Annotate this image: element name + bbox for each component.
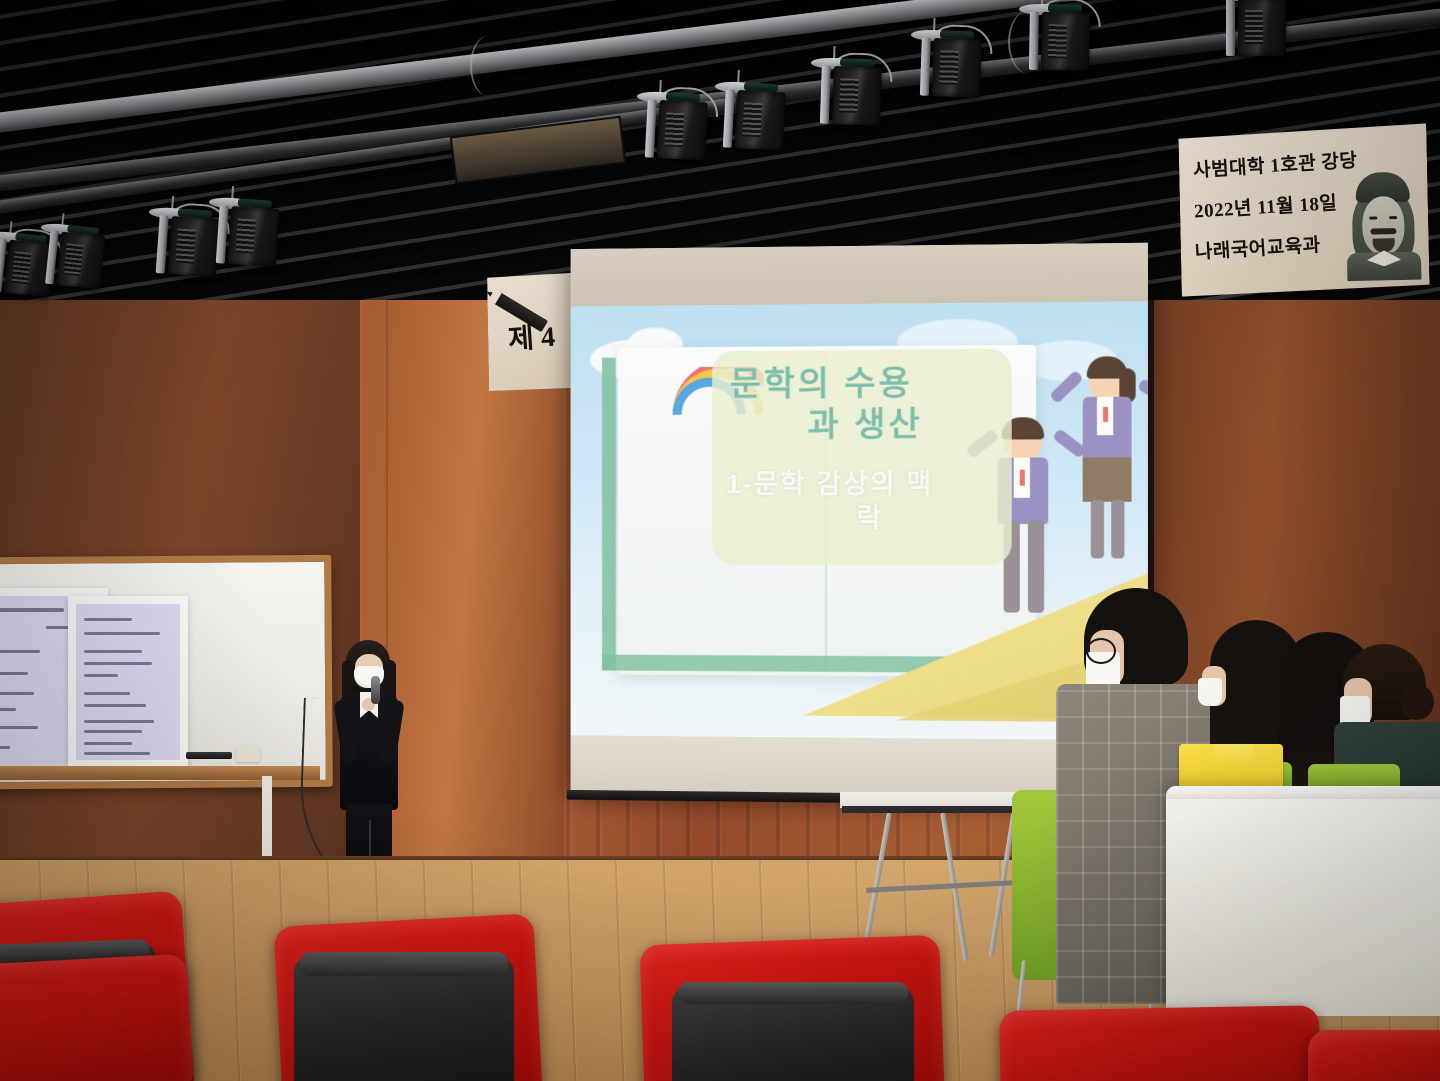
microphone-icon xyxy=(371,676,380,704)
cloud-icon xyxy=(1020,340,1117,381)
yellow-bag xyxy=(1179,744,1283,790)
auditorium-seat xyxy=(666,988,920,1081)
auditorium-seat xyxy=(286,958,522,1081)
slide-title-box: 문학의 수용 과 생산 1-문학 감상의 맥 락 xyxy=(712,349,1012,565)
auditorium-seat xyxy=(0,954,193,1081)
judges-table xyxy=(1166,786,1440,1016)
venue-banner-line2: 2022년 11월 18일 xyxy=(1193,187,1359,224)
cloud-icon xyxy=(867,622,998,663)
book-base xyxy=(602,655,1050,674)
slide-subtitle: 1-문학 감상의 맥 락 xyxy=(726,468,1016,536)
slide-subtitle-line2: 락 xyxy=(726,502,1016,536)
student-illustration-girl xyxy=(1064,346,1148,563)
book-spine xyxy=(602,358,616,671)
auditorium-photo: 사범대학 1호관 강당 2022년 11월 18일 나래국어교육과 제 4 xyxy=(0,0,1440,1081)
venue-banner-line3: 나래국어교육과 xyxy=(1194,228,1360,265)
glasses-icon xyxy=(1086,638,1116,664)
slide-subtitle-line1: 1-문학 감상의 맥 xyxy=(726,468,1016,502)
cloud-icon xyxy=(897,319,1018,366)
whiteboard-eraser xyxy=(236,746,260,762)
whiteboard-marker xyxy=(186,752,232,759)
screen-top-margin xyxy=(571,243,1148,307)
auditorium-seat xyxy=(999,1005,1321,1081)
venue-banner-text: 사범대학 1호관 강당 2022년 11월 18일 나래국어교육과 xyxy=(1193,149,1360,261)
whiteboard-ledge xyxy=(0,766,320,780)
auditorium-seat xyxy=(1308,1030,1440,1081)
scholar-portrait-icon xyxy=(1343,166,1423,280)
slide-title: 문학의 수용 과 생산 xyxy=(730,363,1002,447)
venue-banner-line1: 사범대학 1호관 강당 xyxy=(1192,145,1358,182)
student-illustration-boy xyxy=(979,407,1072,619)
section-banner-text: 제 4 xyxy=(507,315,556,358)
venue-banner: 사범대학 1호관 강당 2022년 11월 18일 나래국어교육과 xyxy=(1178,123,1429,296)
poster-right xyxy=(68,596,188,768)
slide-title-line2: 과 생산 xyxy=(730,405,1002,448)
hanging-cable-1 xyxy=(470,36,506,96)
slide-title-line1: 문학의 수용 xyxy=(730,363,1002,406)
face-mask-icon xyxy=(1198,678,1222,706)
